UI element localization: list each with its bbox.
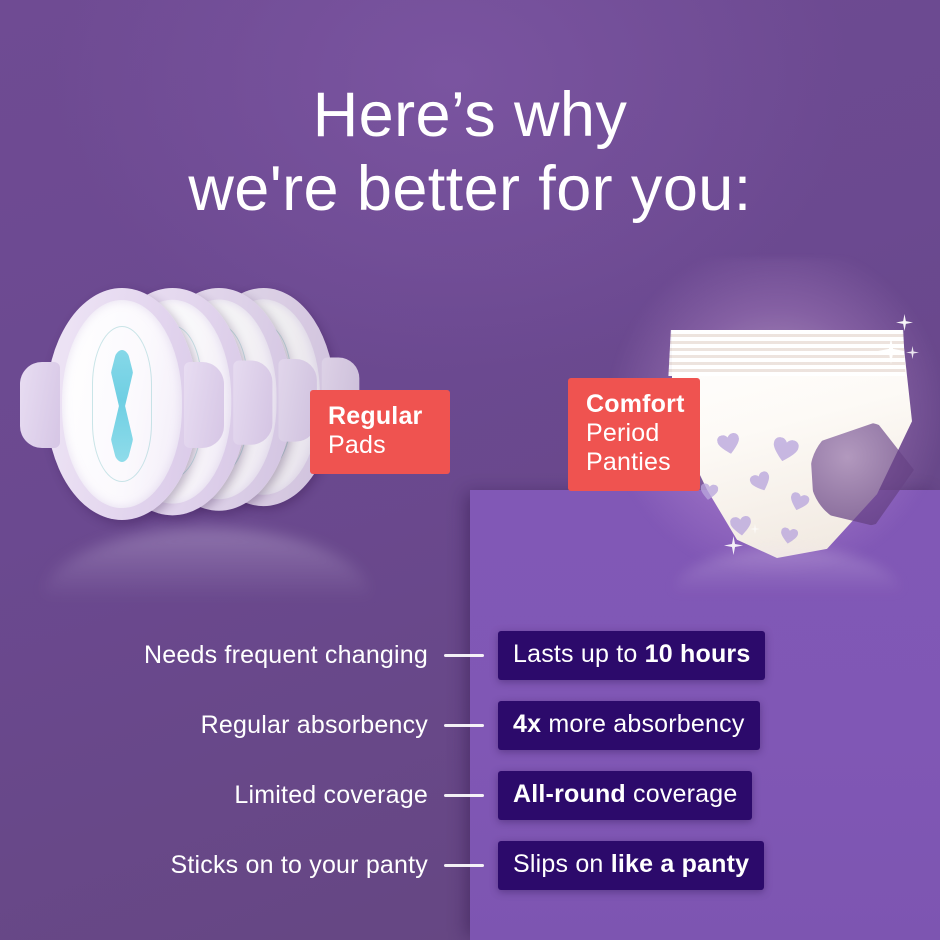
row-connector-dash [444,794,484,797]
row-left-text: Limited coverage [0,781,430,810]
row-right-benefit: 4x more absorbency [498,701,760,750]
comparison-row: Sticks on to your panty Slips on like a … [0,830,940,900]
comparison-row: Limited coverage All-round coverage [0,760,940,830]
benefit-suffix: more absorbency [541,710,744,738]
row-left-text: Sticks on to your panty [0,851,430,880]
benefit-highlight: like a panty [611,850,750,878]
badge-comfort-period-panties: Comfort Period Panties [568,378,700,491]
benefit-highlight: All-round [513,780,626,808]
row-right-benefit: Slips on like a panty [498,841,764,890]
badge-regular-pads: Regular Pads [310,390,450,474]
comparison-row: Regular absorbency 4x more absorbency [0,690,940,760]
row-connector-dash [444,724,484,727]
benefit-suffix: coverage [626,780,738,808]
page-title: Here’s why we're better for you: [0,78,940,226]
row-right-benefit: All-round coverage [498,771,752,820]
badge-title: Comfort [586,390,685,418]
benefit-highlight: 4x [513,710,541,738]
badge-subtitle-1: Period [586,419,659,447]
pad-wing-left [20,362,60,448]
pad-1-front [46,288,198,520]
pad-wing-right [233,361,272,445]
pad-wing-right [184,362,224,448]
row-left-text: Regular absorbency [0,711,430,740]
benefit-highlight: 10 hours [645,640,751,668]
benefit-prefix: Lasts up to [513,640,645,668]
headline-line-2: we're better for you: [0,152,940,226]
badge-title: Regular [328,402,422,430]
row-right-benefit: Lasts up to 10 hours [498,631,765,680]
row-connector-dash [444,654,484,657]
row-connector-dash [444,864,484,867]
headline-line-1: Here’s why [313,80,627,150]
promo-canvas: Here’s why we're better for you: [0,0,940,940]
badge-subtitle-2: Panties [586,448,671,476]
panty-waistband [666,330,908,376]
benefit-prefix: Slips on [513,850,611,878]
row-left-text: Needs frequent changing [0,641,430,670]
comparison-row: Needs frequent changing Lasts up to 10 h… [0,620,940,690]
badge-subtitle: Pads [328,431,386,459]
comparison-list: Needs frequent changing Lasts up to 10 h… [0,620,940,900]
